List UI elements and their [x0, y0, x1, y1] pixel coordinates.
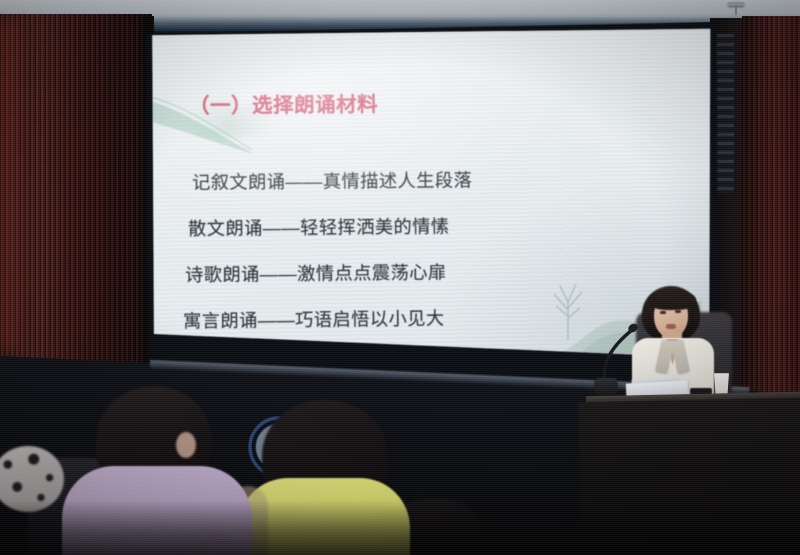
speaker-eye-left [660, 311, 666, 314]
speaker-hair-fringe [648, 290, 696, 310]
microphone-icon [598, 322, 638, 380]
speaker-eye-right [675, 310, 681, 313]
slide-line: 散文朗诵——轻轻挥洒美的情愫 [188, 211, 613, 241]
slide-line: 诗歌朗诵——激情点点震荡心扉 [185, 257, 613, 287]
slide-body-text: 记叙文朗诵——真情描述人生段落 散文朗诵——轻轻挥洒美的情愫 诗歌朗诵——激情点… [183, 167, 613, 331]
desk-front-panel [578, 398, 800, 555]
sprinkler-head-icon [728, 2, 744, 15]
slide-line: 记叙文朗诵——真情描述人生段落 [192, 165, 613, 195]
audience-ear [176, 432, 196, 458]
slide-line: 寓言朗诵——巧语启悟以小见大 [183, 303, 613, 334]
microphone-base [594, 378, 618, 396]
right-wood-slat-wall [742, 16, 800, 446]
speaker-mouth [666, 324, 676, 329]
slide-title: （一）选择朗诵材料 [189, 87, 378, 118]
left-wall-light-glow [0, 20, 26, 350]
speaker-necklace [663, 338, 682, 350]
audience-lavender-top [62, 466, 252, 555]
lecture-room-photo: （一）选择朗诵材料 记叙文朗诵——真情描述人生段落 散文朗诵——轻轻挥洒美的情愫… [0, 0, 800, 555]
